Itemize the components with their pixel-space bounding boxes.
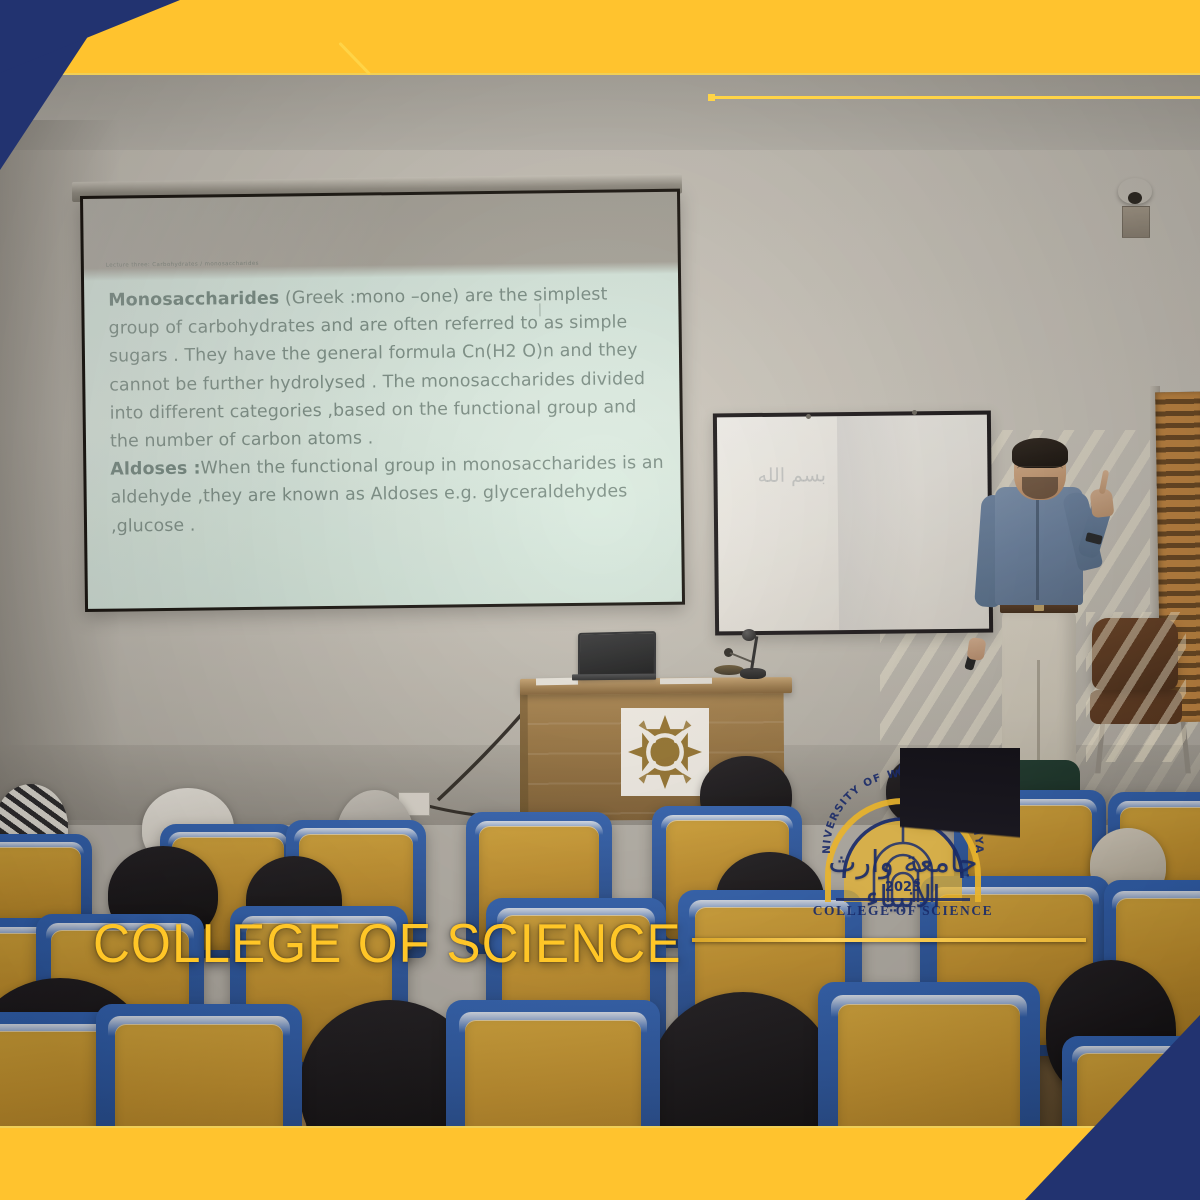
headline-rule: [692, 938, 1086, 942]
top-hairline: [0, 73, 1200, 75]
crest-divider: [836, 898, 970, 901]
microphone-head-icon: [742, 629, 756, 641]
laptop-base: [572, 674, 656, 681]
podium-islamic-lattice-panel: [621, 708, 709, 796]
presenter-shirt-placket: [1036, 495, 1039, 600]
bottom-right-navy-triangle: [1025, 1015, 1200, 1200]
presenter-glasses-icon: [1017, 466, 1063, 476]
presenter-beard: [1022, 477, 1058, 499]
laptop-screen: [578, 631, 656, 680]
crest-subtitle: COLLEGE OF SCIENCE: [806, 903, 1000, 919]
poster-canvas: Lecture three: Carbohydrates / monosacch…: [0, 0, 1200, 1200]
side-chair-seat: [1090, 690, 1182, 724]
page-title: COLLEGE OF SCIENCE: [93, 916, 682, 971]
crest-year: 2023: [818, 880, 988, 895]
bottom-yellow-band: [0, 1128, 1200, 1200]
presenter-hair: [1012, 438, 1068, 468]
side-chair-legs: [1095, 722, 1191, 774]
top-yellow-band: [0, 0, 1200, 73]
presenter-left-hand: [967, 637, 987, 661]
bottom-hairline: [0, 1126, 1200, 1128]
side-chair-backrest: [1092, 618, 1178, 690]
top-left-navy-wedge: [0, 0, 180, 73]
top-accent-line: [710, 96, 1200, 99]
podium-papers-right: [660, 678, 712, 685]
lecture-hall-photo: Lecture three: Carbohydrates / monosacch…: [0, 0, 1200, 1200]
